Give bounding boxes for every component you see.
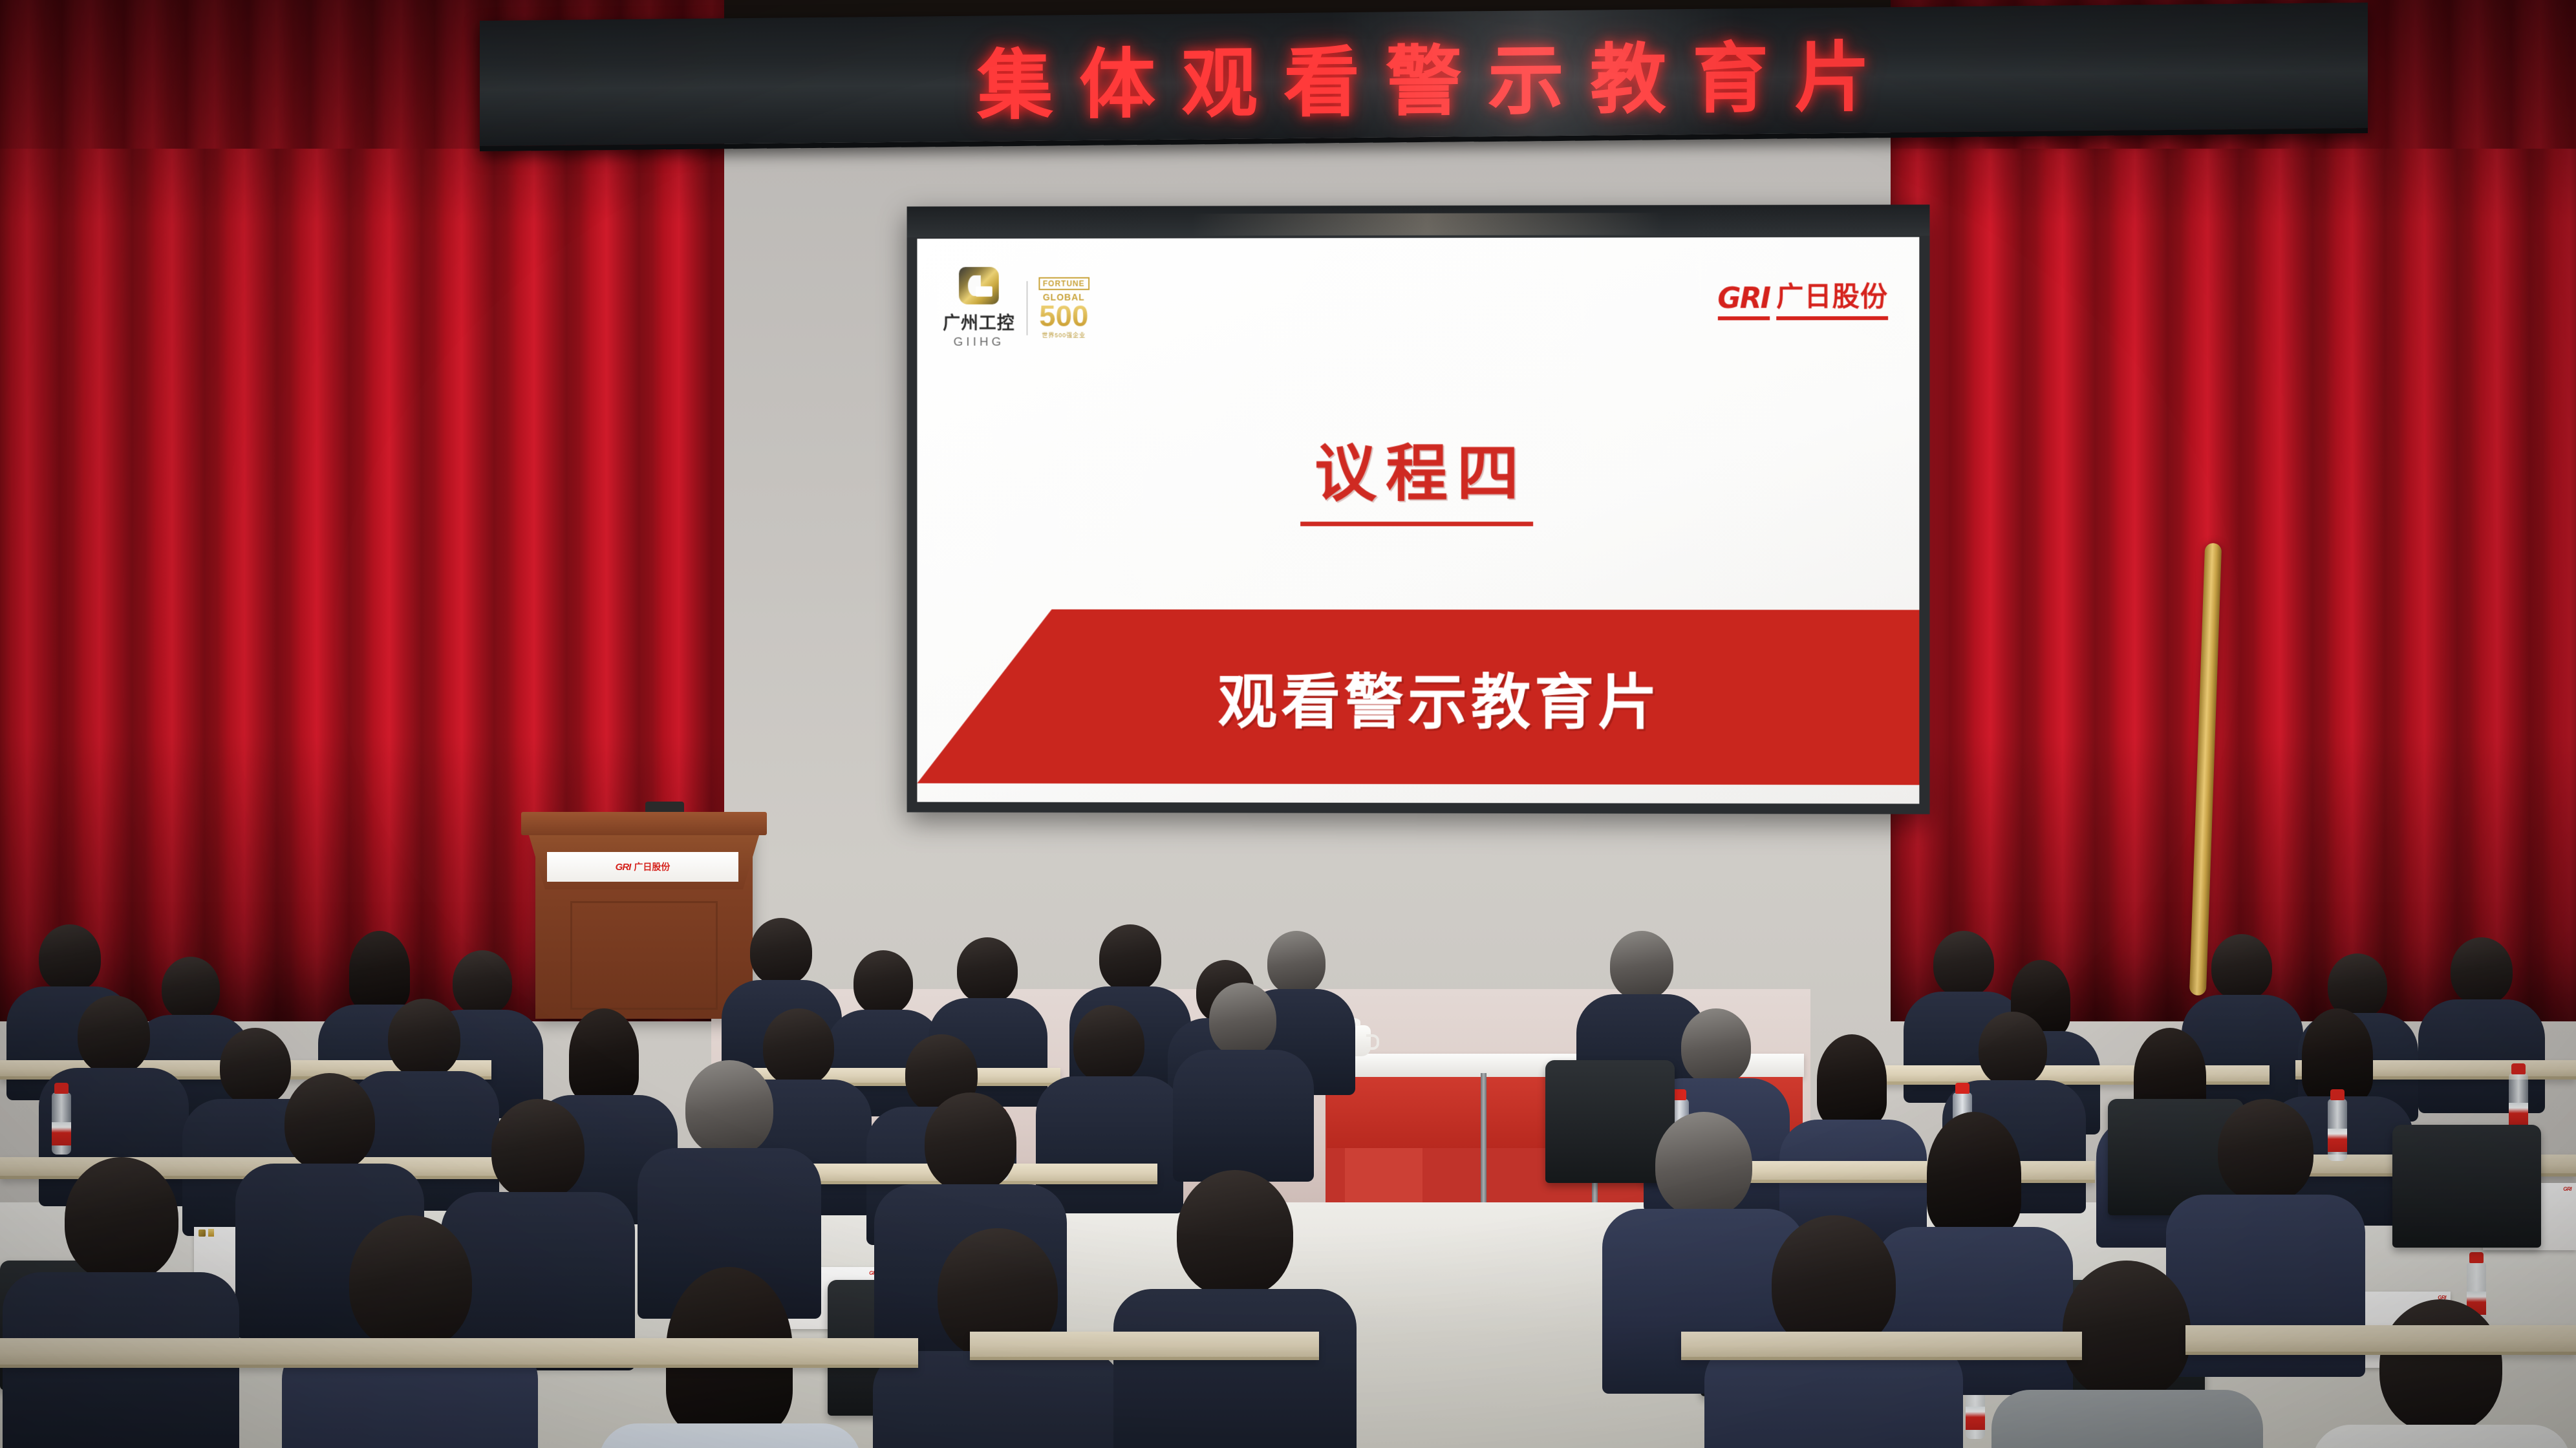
person-head [2218, 1099, 2313, 1202]
podium-top-rail [521, 812, 767, 835]
podium-plaque-abbr: GRI [616, 862, 631, 873]
person-body [1113, 1289, 1357, 1448]
giihg-name-en: GIIHG [954, 335, 1004, 350]
person-head [1073, 1005, 1144, 1083]
slide-title-text: 议程四 [1300, 423, 1533, 526]
speaking-podium: GRI 广日股份 [535, 825, 753, 1019]
slide-logo-giihg: 广州工控 GIIHG FORTUNE GLOBAL 500 世界500强企业 [943, 267, 1088, 350]
person-head [1610, 931, 1673, 999]
audience-desk [1681, 1332, 2082, 1360]
podium-plaque: GRI 广日股份 [547, 852, 738, 882]
person-head [1933, 931, 1994, 997]
slide-red-band: 观看警示教育片 [917, 610, 1919, 785]
podium-plaque-cn: 广日股份 [634, 860, 670, 873]
fortune-number: 500 [1039, 303, 1088, 330]
bottle-cap [2330, 1089, 2345, 1100]
person-head [853, 950, 913, 1015]
person-head [349, 931, 410, 1010]
person-head [162, 957, 220, 1020]
person-head [1177, 1170, 1293, 1297]
stage-curtain-right [1891, 0, 2576, 1021]
person-body [599, 1423, 861, 1448]
bottle-cap [54, 1083, 69, 1094]
audience-desk [1869, 1065, 2270, 1085]
person-head [750, 918, 812, 985]
conference-hall-photo: 集体观看警示教育片 广州工控 GIIHG FORTUNE GLOBAL 500 … [0, 0, 2576, 1448]
person-head [491, 1099, 585, 1200]
person-head [39, 924, 101, 992]
person-head [1681, 1008, 1751, 1085]
person-head [1817, 1034, 1887, 1126]
led-banner-glare [1329, 8, 1744, 138]
audience-desk [2185, 1325, 2576, 1355]
giihg-name-cn: 广州工控 [943, 309, 1014, 334]
water-bottle-icon [52, 1092, 71, 1155]
bottle-label [1966, 1407, 1985, 1430]
presentation-slide: 广州工控 GIIHG FORTUNE GLOBAL 500 世界500强企业 G… [917, 237, 1919, 804]
person-head [2451, 937, 2513, 1005]
person-body [1036, 1076, 1183, 1213]
fortune-badge-icon [208, 1229, 214, 1237]
fortune-sublabel: 世界500强企业 [1042, 331, 1086, 339]
person-head [763, 1008, 834, 1086]
bottle-label [2509, 1103, 2528, 1126]
person-body [1991, 1390, 2263, 1448]
person-head [65, 1157, 178, 1281]
slide-logo-gri: GRI 广日股份 [1717, 275, 1888, 321]
person-body [1173, 1050, 1314, 1182]
podium-front-panel [570, 901, 718, 1010]
screen-top-frame [907, 204, 1930, 237]
giihg-mark-icon [199, 1230, 206, 1237]
person-head [388, 999, 460, 1078]
bottle-label [52, 1122, 71, 1145]
person-head [2211, 934, 2272, 1000]
person-head [1099, 924, 1161, 992]
person-head [1655, 1112, 1752, 1217]
audience-desk [970, 1332, 1319, 1360]
person-head [1209, 983, 1276, 1056]
bottle-cap [2469, 1252, 2484, 1263]
person-head [1772, 1215, 1896, 1351]
led-banner: 集体观看警示教育片 [480, 3, 2368, 151]
fortune-label: FORTUNE [1038, 277, 1089, 290]
screen-frame-sheen [1192, 213, 1662, 235]
person-head [78, 995, 150, 1074]
bottle-cap [2511, 1063, 2526, 1074]
slide-title: 议程四 [917, 423, 1919, 527]
audience-desk [0, 1338, 918, 1368]
projection-screen: 广州工控 GIIHG FORTUNE GLOBAL 500 世界500强企业 G… [907, 204, 1930, 814]
nameplate-logo-left [199, 1229, 214, 1237]
water-bottle-icon [2328, 1099, 2347, 1161]
person-body [2312, 1425, 2571, 1448]
person-head [2063, 1261, 2191, 1400]
person-head [453, 950, 512, 1015]
person-head [1927, 1112, 2021, 1235]
bottle-label [2328, 1129, 2347, 1152]
person-head [2379, 1299, 2502, 1432]
slide-band-text: 观看警示教育片 [917, 654, 1919, 741]
giihg-g-mark-icon [959, 267, 999, 304]
podium-cap: GRI 广日股份 [529, 835, 759, 889]
person-head [569, 1008, 639, 1102]
logo-divider [1027, 281, 1028, 335]
person-head [685, 1060, 773, 1156]
bottle-cap [1955, 1083, 1970, 1094]
gri-abbr: GRI [1717, 282, 1770, 320]
audience-chair [2392, 1125, 2541, 1248]
giihg-logo-block: 广州工控 GIIHG [943, 267, 1014, 350]
person-head [925, 1092, 1016, 1192]
person-head [284, 1073, 375, 1171]
person-head [957, 937, 1018, 1003]
person-head [1267, 931, 1326, 994]
gri-name-cn: 广日股份 [1776, 275, 1888, 320]
person-head [349, 1215, 472, 1350]
fortune-global-500-badge: FORTUNE GLOBAL 500 世界500强企业 [1039, 277, 1088, 339]
person-head [220, 1028, 291, 1105]
nameplate-gri-logo: GRI [2563, 1186, 2571, 1192]
person-head [1979, 1012, 2047, 1087]
